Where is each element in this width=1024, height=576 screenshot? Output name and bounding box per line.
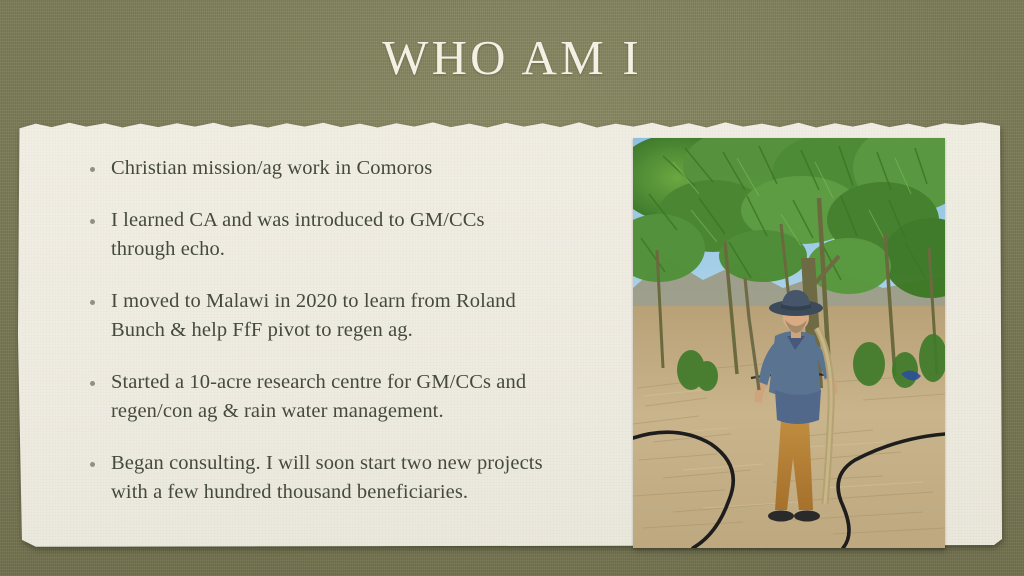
list-item: Christian mission/ag work in Comoros bbox=[90, 154, 550, 183]
bullet-text: Began consulting. I will soon start two … bbox=[111, 449, 550, 507]
bullet-dot-icon bbox=[90, 219, 95, 224]
bullet-text: I moved to Malawi in 2020 to learn from … bbox=[111, 287, 550, 345]
bullet-text: I learned CA and was introduced to GM/CC… bbox=[111, 206, 550, 264]
list-item: I learned CA and was introduced to GM/CC… bbox=[90, 206, 550, 264]
bullet-text: Christian mission/ag work in Comoros bbox=[111, 154, 432, 183]
slide-photo bbox=[633, 138, 945, 548]
bullet-dot-icon bbox=[90, 381, 95, 386]
list-item: Began consulting. I will soon start two … bbox=[90, 449, 550, 507]
page-title: WHO AM I bbox=[0, 27, 1024, 89]
bullet-dot-icon bbox=[90, 462, 95, 467]
slide-canvas: WHO AM I Christian mission/ag work in Co… bbox=[0, 0, 1024, 576]
list-item: I moved to Malawi in 2020 to learn from … bbox=[90, 287, 550, 345]
bullet-list: Christian mission/ag work in Comoros I l… bbox=[90, 154, 550, 507]
bullet-dot-icon bbox=[90, 167, 95, 172]
photo-illustration bbox=[633, 138, 945, 548]
bullet-text: Started a 10-acre research centre for GM… bbox=[111, 368, 550, 426]
content-panel: Christian mission/ag work in Comoros I l… bbox=[16, 118, 1004, 552]
bullet-dot-icon bbox=[90, 300, 95, 305]
list-item: Started a 10-acre research centre for GM… bbox=[90, 368, 550, 426]
